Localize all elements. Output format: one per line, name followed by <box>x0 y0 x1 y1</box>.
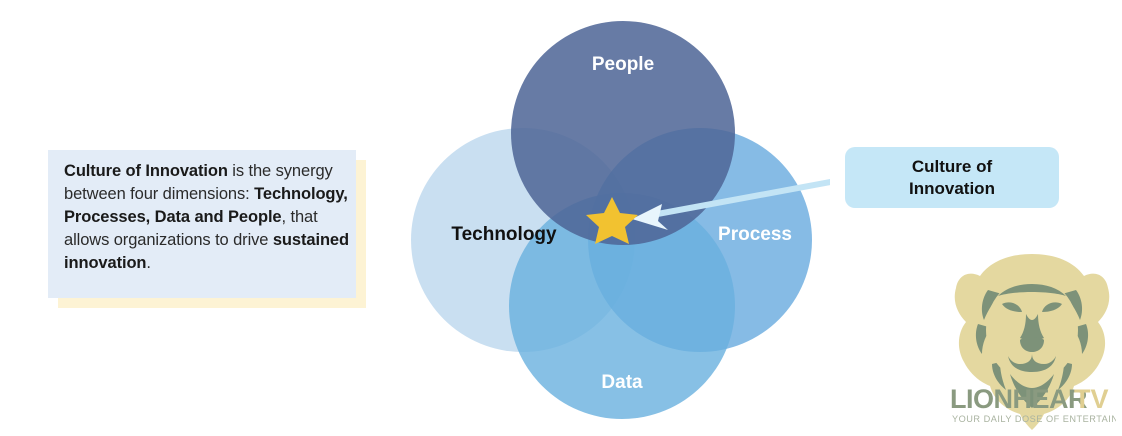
venn-label-data: Data <box>601 372 643 393</box>
logo-tagline: YOUR DAILY DOSE OF ENTERTAINMENT <box>952 414 1116 424</box>
callout-label: Culture of Innovation <box>909 156 995 200</box>
venn-label-people: People <box>592 54 654 75</box>
callout-box[interactable]: Culture of Innovation <box>845 147 1059 208</box>
venn-label-process: Process <box>718 224 792 245</box>
callout-line-1: Culture of <box>912 157 992 176</box>
venn-label-technology: Technology <box>451 224 557 245</box>
description-segment-5: . <box>146 254 150 272</box>
callout-line-2: Innovation <box>909 179 995 198</box>
logo-word-primary: LIONHEAR <box>950 384 1087 414</box>
logo-wordmark: LIONHEAR TV YOUR DAILY DOSE OF ENTERTAIN… <box>950 384 1116 424</box>
lionheartv-logo: LIONHEAR TV YOUR DAILY DOSE OF ENTERTAIN… <box>948 252 1116 430</box>
venn-diagram: People Technology Process Data <box>400 8 830 436</box>
logo-word-secondary: TV <box>1074 384 1109 414</box>
description-text: Culture of Innovation is the synergy bet… <box>64 160 349 275</box>
description-segment-0: Culture of Innovation <box>64 162 228 180</box>
diagram-canvas: Culture of Innovation is the synergy bet… <box>0 0 1122 436</box>
